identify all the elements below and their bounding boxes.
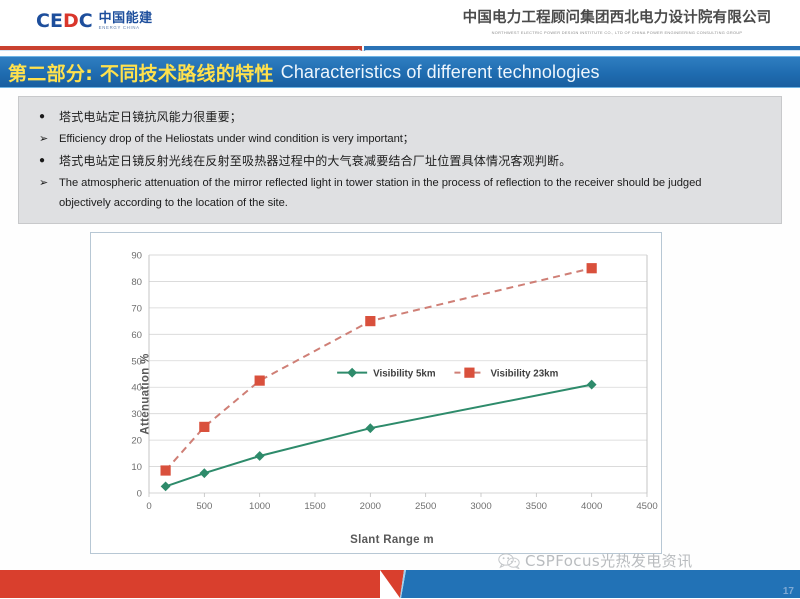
slide-number: 17 — [783, 586, 794, 597]
svg-text:Visibility 23km: Visibility 23km — [490, 368, 558, 379]
attenuation-chart: Attenuation % Slant Range m 010203040506… — [90, 232, 662, 554]
slide-title-en: Characteristics of different technologie… — [281, 62, 600, 83]
header-divider — [0, 45, 800, 51]
svg-text:70: 70 — [131, 303, 142, 314]
slide-footer: 17 — [0, 570, 800, 598]
svg-text:30: 30 — [131, 409, 142, 420]
svg-text:0: 0 — [146, 501, 151, 512]
bullet-item: ➢ Efficiency drop of the Heliostats unde… — [33, 129, 767, 149]
organization-name-en: NORTHWEST ELECTRIC POWER DESIGN INSTITUT… — [442, 29, 792, 36]
organization-name-cn: 中国电力工程顾问集团西北电力设计院有限公司 — [442, 10, 792, 27]
svg-text:2500: 2500 — [415, 501, 436, 512]
bullet-item: ● 塔式电站定日镜反射光线在反射至吸热器过程中的大气衰减要结合厂址位置具体情况客… — [33, 151, 767, 171]
svg-text:500: 500 — [196, 501, 212, 512]
logo-wordmark: 中国能建 ENERGY CHINA — [99, 11, 153, 31]
svg-text:2000: 2000 — [360, 501, 381, 512]
logo-company-cn: 中国能建 — [99, 11, 153, 24]
bullet-text-block: The atmospheric attenuation of the mirro… — [59, 173, 701, 213]
logo-company-en: ENERGY CHINA — [99, 25, 153, 31]
svg-text:3500: 3500 — [526, 501, 547, 512]
svg-text:Visibility 5km: Visibility 5km — [373, 368, 436, 379]
organization-name: 中国电力工程顾问集团西北电力设计院有限公司 NORTHWEST ELECTRIC… — [442, 10, 792, 36]
svg-text:10: 10 — [131, 462, 142, 473]
logo-letter-e: E — [50, 12, 62, 31]
svg-text:80: 80 — [131, 277, 142, 288]
logo-letter-c2: C — [79, 12, 92, 31]
bullet-marker-arrow: ➢ — [33, 129, 59, 149]
svg-text:20: 20 — [131, 436, 142, 447]
svg-text:1000: 1000 — [249, 501, 270, 512]
footer-notch-icon — [380, 570, 420, 598]
presentation-slide: C E D C 中国能建 ENERGY CHINA 中国电力工程顾问集团西北电力… — [0, 0, 800, 598]
svg-text:1500: 1500 — [304, 501, 325, 512]
bullet-text-line2: objectively according to the location of… — [59, 193, 701, 213]
slide-title-cn: 第二部分: 不同技术路线的特性 — [8, 59, 274, 86]
bullet-text-line1: The atmospheric attenuation of the mirro… — [59, 177, 701, 189]
bullet-item: ● 塔式电站定日镜抗风能力很重要； — [33, 107, 767, 127]
svg-text:60: 60 — [131, 330, 142, 341]
bullet-text: 塔式电站定日镜抗风能力很重要； — [59, 107, 242, 127]
footer-band-blue — [404, 570, 800, 598]
chart-svg: 0102030405060708090050010001500200025003… — [91, 233, 663, 555]
bullet-list-panel: ● 塔式电站定日镜抗风能力很重要； ➢ Efficiency drop of t… — [18, 96, 782, 224]
svg-text:0: 0 — [137, 489, 142, 500]
svg-text:40: 40 — [131, 383, 142, 394]
cedc-logo-mark: C E D C — [36, 11, 92, 31]
energy-china-logo: C E D C 中国能建 ENERGY CHINA — [36, 11, 153, 31]
svg-text:3000: 3000 — [470, 501, 491, 512]
header-divider-notch-icon — [352, 45, 372, 51]
slide-header: C E D C 中国能建 ENERGY CHINA 中国电力工程顾问集团西北电力… — [0, 0, 800, 44]
slide-title-bar: 第二部分: 不同技术路线的特性 Characteristics of diffe… — [0, 56, 800, 88]
wechat-icon — [498, 553, 520, 569]
bullet-marker-dot: ● — [33, 151, 59, 171]
logo-letter-d: D — [63, 12, 78, 31]
footer-band-red — [0, 570, 404, 598]
svg-text:4000: 4000 — [581, 501, 602, 512]
bullet-item: ➢ The atmospheric attenuation of the mir… — [33, 173, 767, 213]
bullet-marker-arrow: ➢ — [33, 173, 59, 193]
svg-text:4500: 4500 — [636, 501, 657, 512]
logo-letter-c1: C — [36, 12, 49, 31]
svg-text:50: 50 — [131, 356, 142, 367]
svg-text:90: 90 — [131, 251, 142, 262]
bullet-text: Efficiency drop of the Heliostats under … — [59, 129, 414, 149]
bullet-marker-dot: ● — [33, 107, 59, 127]
chart-plot-area: Attenuation % Slant Range m 010203040506… — [91, 233, 663, 555]
bullet-text: 塔式电站定日镜反射光线在反射至吸热器过程中的大气衰减要结合厂址位置具体情况客观判… — [59, 151, 571, 171]
header-divider-hairline — [0, 50, 800, 51]
